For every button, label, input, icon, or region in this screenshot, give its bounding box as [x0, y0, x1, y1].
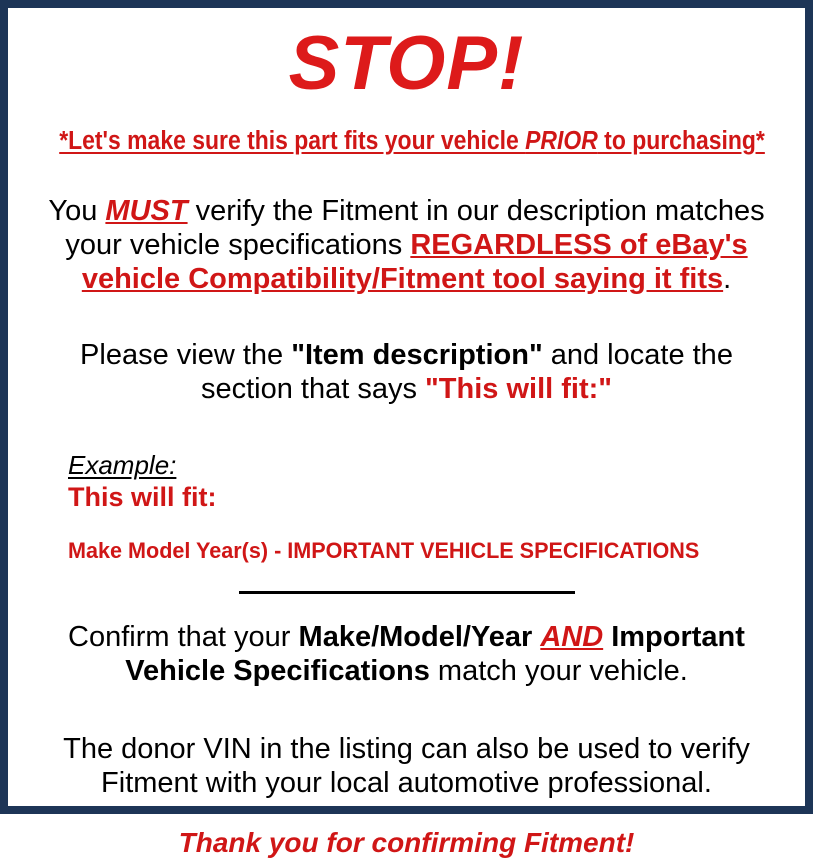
must-emphasis: MUST	[105, 195, 187, 227]
subtitle-text: *Let's make sure this part fits your veh…	[59, 126, 765, 156]
divider	[20, 584, 793, 598]
donor-vin-paragraph: The donor VIN in the listing can also be…	[20, 732, 793, 800]
example-label-row: Example:	[68, 450, 793, 480]
page-title: STOP!	[20, 16, 793, 112]
confirm-seg-tail: match your vehicle.	[430, 655, 688, 687]
subtitle-emphasis-prior: PRIOR	[525, 127, 598, 155]
confirm-seg-lead: Confirm that your	[68, 621, 298, 653]
fitment-notice-card: STOP! *Let's make sure this part fits yo…	[0, 0, 813, 814]
subtitle-banner: *Let's make sure this part fits your veh…	[20, 126, 793, 160]
horizontal-rule-icon	[239, 591, 575, 594]
item-description-quote: "Item description"	[291, 339, 542, 371]
confirm-paragraph: Confirm that your Make/Model/Year AND Im…	[20, 620, 793, 688]
example-block: Example: This will fit: Make Model Year(…	[20, 450, 793, 564]
item-description-paragraph: Please view the "Item description" and l…	[20, 338, 793, 406]
make-model-year-bold: Make/Model/Year	[299, 621, 541, 653]
example-specification-line: Make Model Year(s) - IMPORTANT VEHICLE S…	[68, 538, 764, 564]
must-verify-paragraph: You MUST verify the Fitment in our descr…	[20, 194, 793, 296]
subtitle-suffix: to purchasing*	[598, 127, 765, 155]
must-seg-period: .	[723, 263, 731, 295]
itemdesc-seg-lead: Please view the	[80, 339, 291, 371]
must-seg-lead: You	[48, 195, 105, 227]
subtitle-prefix: *Let's make sure this part fits your veh…	[59, 127, 525, 155]
example-will-fit-heading: This will fit:	[68, 482, 793, 512]
notice-content: STOP! *Let's make sure this part fits yo…	[8, 16, 805, 814]
thank-you-line: Thank you for confirming Fitment!	[20, 826, 793, 860]
this-will-fit-quote: "This will fit:"	[425, 373, 612, 405]
example-label: Example:	[68, 450, 176, 480]
and-emphasis: AND	[540, 621, 603, 653]
